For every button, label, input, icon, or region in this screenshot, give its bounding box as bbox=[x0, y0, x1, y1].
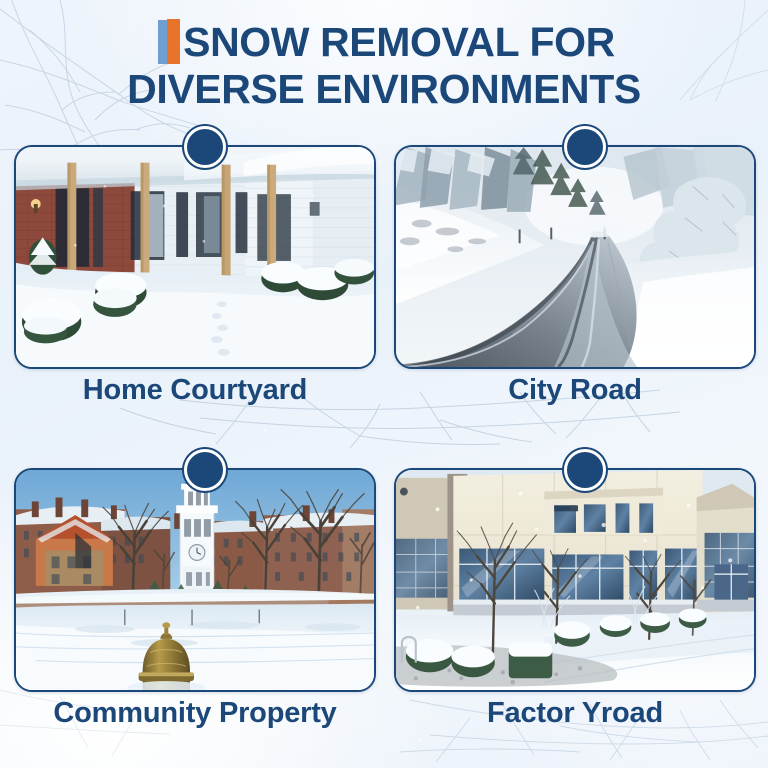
badge-city-road bbox=[564, 126, 606, 168]
badge-home-courtyard bbox=[184, 126, 226, 168]
photo-home-courtyard bbox=[16, 147, 374, 367]
card-grid: Home Courtyard bbox=[0, 0, 768, 768]
caption-city-road: City Road bbox=[394, 374, 756, 407]
photo-factor-yroad bbox=[396, 470, 754, 690]
card-home-courtyard[interactable] bbox=[14, 145, 376, 369]
photo-city-road bbox=[396, 147, 754, 367]
photo-community-property bbox=[16, 470, 374, 690]
card-city-road[interactable] bbox=[394, 145, 756, 369]
badge-factor-yroad bbox=[564, 449, 606, 491]
card-factor-yroad[interactable] bbox=[394, 468, 756, 692]
caption-community-property: Community Property bbox=[4, 697, 386, 730]
card-community-property[interactable] bbox=[14, 468, 376, 692]
caption-home-courtyard: Home Courtyard bbox=[14, 374, 376, 407]
badge-community-property bbox=[184, 449, 226, 491]
caption-factor-yroad: Factor Yroad bbox=[394, 697, 756, 730]
